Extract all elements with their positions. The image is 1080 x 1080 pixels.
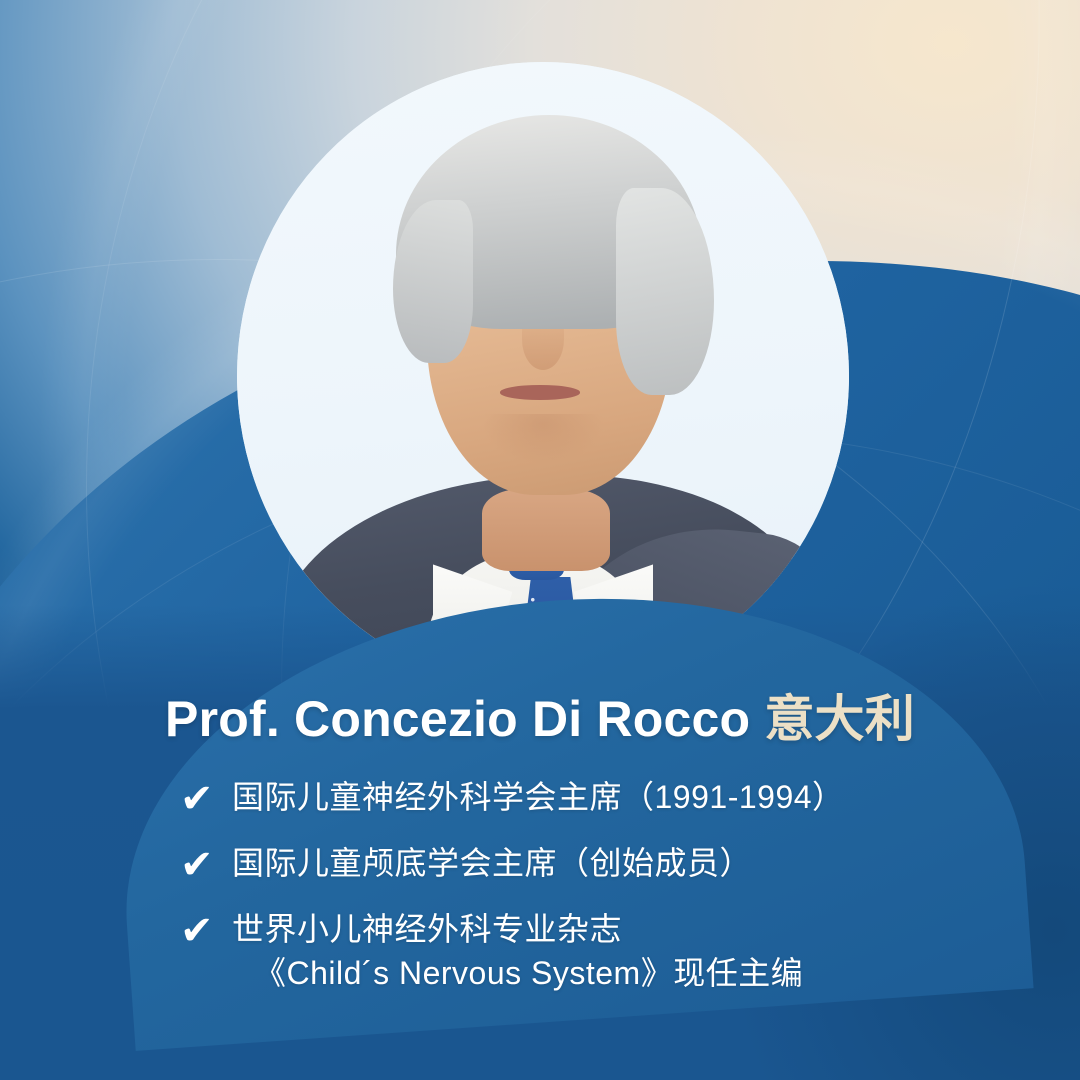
credential-line-1: 国际儿童神经外科学会主席（1991-1994） — [232, 779, 845, 815]
portrait-mouth — [500, 385, 580, 399]
portrait-chin — [482, 414, 604, 464]
speaker-profile-poster: Prof. Concezio Di Rocco 意大利 ✔ 国际儿童神经外科学会… — [0, 0, 1080, 1080]
credential-line-1: 国际儿童颅底学会主席（创始成员） — [232, 845, 752, 881]
list-item: ✔ 国际儿童颅底学会主席（创始成员） — [180, 841, 980, 885]
list-item: ✔ 世界小儿神经外科专业杂志 《Child´s Nervous System》现… — [180, 907, 980, 995]
speaker-country: 意大利 — [764, 691, 915, 747]
check-icon: ✔ — [180, 843, 232, 887]
credential-line-2: 《Child´s Nervous System》现任主编 — [232, 951, 803, 995]
portrait-neck — [482, 489, 611, 571]
check-icon: ✔ — [180, 777, 232, 821]
speaker-portrait — [237, 62, 849, 690]
credential-text: 世界小儿神经外科专业杂志 《Child´s Nervous System》现任主… — [232, 907, 803, 995]
speaker-name: Prof. Concezio Di Rocco — [165, 691, 750, 747]
portrait-hair-left — [393, 200, 473, 363]
list-item: ✔ 国际儿童神经外科学会主席（1991-1994） — [180, 775, 980, 819]
content-block: Prof. Concezio Di Rocco 意大利 ✔ 国际儿童神经外科学会… — [0, 690, 1080, 995]
credentials-list: ✔ 国际儿童神经外科学会主席（1991-1994） ✔ 国际儿童颅底学会主席（创… — [180, 775, 980, 995]
page-title: Prof. Concezio Di Rocco 意大利 — [60, 690, 1020, 749]
credential-text: 国际儿童神经外科学会主席（1991-1994） — [232, 775, 845, 819]
credential-line-1: 世界小儿神经外科专业杂志 — [232, 911, 622, 947]
credential-text: 国际儿童颅底学会主席（创始成员） — [232, 841, 752, 885]
portrait-image — [237, 62, 849, 690]
check-icon: ✔ — [180, 909, 232, 953]
